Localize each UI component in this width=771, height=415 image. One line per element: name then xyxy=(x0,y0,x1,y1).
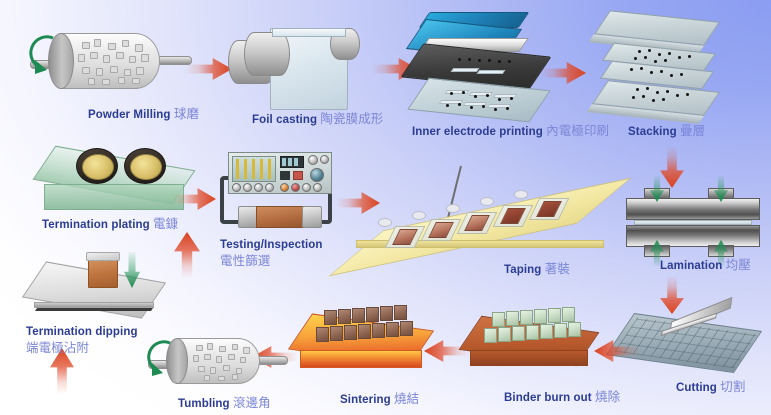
label-powder-milling: Powder Milling 球磨 xyxy=(88,107,199,122)
binder-burn-out-cn: 燒除 xyxy=(595,389,620,404)
termination-dipping-en: Termination dipping xyxy=(26,326,138,338)
label-lamination: Lamination 均壓 xyxy=(660,258,751,273)
powder-milling-cn: 球磨 xyxy=(174,106,199,121)
testing-inspection-illustration xyxy=(212,152,342,248)
label-cutting: Cutting 切割 xyxy=(676,380,745,395)
cutting-en: Cutting xyxy=(676,382,717,394)
foil-casting-en: Foil casting xyxy=(252,114,317,126)
arrow-cutting-to-burnout xyxy=(594,340,640,362)
inner-electrode-printing-cn: 內電極印刷 xyxy=(546,123,609,138)
label-termination-plating: Termination plating 電鏮 xyxy=(42,217,178,232)
label-binder-burn-out: Binder burn out 燒除 xyxy=(504,390,620,405)
casting-roller-front xyxy=(244,32,290,76)
burnout-tray-front xyxy=(470,350,588,366)
plating-bath-front xyxy=(44,184,184,210)
tumbling-en: Tumbling xyxy=(178,398,230,410)
foil-casting-cn: 陶瓷膜成形 xyxy=(320,111,383,126)
stack-cover-top xyxy=(594,10,720,46)
sintering-cn: 燒結 xyxy=(394,391,419,406)
label-tumbling: Tumbling 滾邊角 xyxy=(178,396,271,411)
binder-burn-out-illustration xyxy=(470,306,600,378)
testing-inspection-cn: 電性篩選 xyxy=(220,253,270,268)
mill-rotation-icon xyxy=(25,28,67,76)
stacking-en: Stacking xyxy=(628,126,677,138)
plating-barrel-right-contents xyxy=(130,154,162,180)
device-under-test-terminal-right xyxy=(302,206,322,228)
termination-plating-cn: 電鏮 xyxy=(153,216,178,231)
taping-illustration xyxy=(356,166,646,288)
termination-dipping-cn: 端電極沾附 xyxy=(26,340,89,355)
sintering-illustration xyxy=(300,304,436,380)
device-under-test xyxy=(256,206,304,228)
press-lower-platen xyxy=(626,225,760,247)
arrow-milling-to-casting xyxy=(186,58,232,80)
press-force-arrow-top-right xyxy=(714,176,728,202)
inner-electrode-printing-en: Inner electrode printing xyxy=(412,126,543,138)
tumbling-cn: 滾邊角 xyxy=(233,395,271,410)
cutting-cn: 切割 xyxy=(720,379,745,394)
label-sintering: Sintering 燒結 xyxy=(340,392,419,407)
process-flow-diagram: Powder Milling 球磨 Foil casting 陶瓷膜成形 xyxy=(0,0,771,415)
foil-casting-illustration xyxy=(228,22,378,110)
arrow-printing-to-stacking xyxy=(540,62,586,84)
sintering-en: Sintering xyxy=(340,394,391,406)
taping-en: Taping xyxy=(504,264,541,276)
arrow-dipping-to-plating xyxy=(174,232,200,278)
foil-edge xyxy=(272,28,346,37)
stacking-illustration xyxy=(594,16,736,120)
taping-cn: 著裝 xyxy=(545,261,570,276)
cup-rim xyxy=(86,252,120,261)
device-under-test-terminal-left xyxy=(238,206,258,228)
tumbler-shaft-right xyxy=(256,356,288,365)
termination-dipping-illustration xyxy=(34,252,170,322)
label-stacking: Stacking 疊層 xyxy=(628,124,705,139)
lamination-cn: 均壓 xyxy=(726,257,751,272)
powder-milling-en: Powder Milling xyxy=(88,109,171,121)
label-termination-dipping: Termination dipping 端電極沾附 xyxy=(26,325,176,357)
dipping-motion-arrow xyxy=(124,252,140,288)
sintering-tray-front xyxy=(300,350,422,368)
arrow-plating-to-testing xyxy=(172,188,216,210)
binder-burn-out-en: Binder burn out xyxy=(504,392,592,404)
press-upper-platen xyxy=(626,198,760,220)
label-foil-casting: Foil casting 陶瓷膜成形 xyxy=(252,112,383,127)
label-taping: Taping 著裝 xyxy=(504,262,570,277)
stacking-cn: 疊層 xyxy=(680,123,705,138)
termination-plating-en: Termination plating xyxy=(42,219,150,231)
testing-inspection-en: Testing/Inspection xyxy=(220,239,323,251)
press-force-arrow-top-left xyxy=(650,176,664,202)
label-inner-electrode-printing: Inner electrode printing 內電極印刷 xyxy=(412,124,609,139)
plating-barrel-left-contents xyxy=(82,154,114,180)
lamination-en: Lamination xyxy=(660,260,722,272)
